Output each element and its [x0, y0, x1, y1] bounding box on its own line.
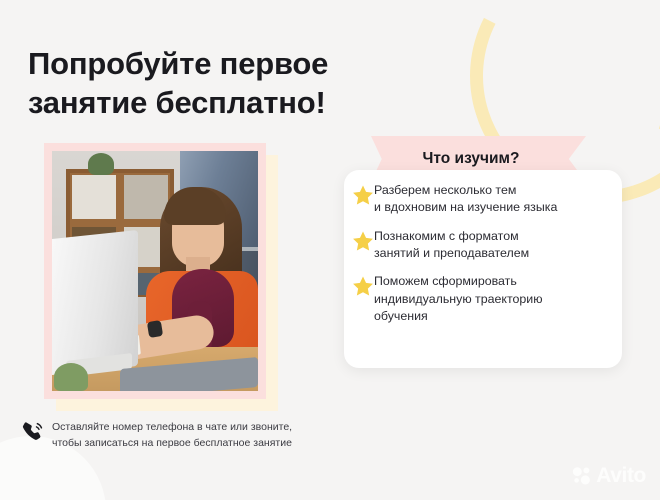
- avito-watermark: Avito: [571, 465, 646, 486]
- star-icon: [352, 230, 374, 252]
- avito-wordmark: Avito: [596, 465, 646, 486]
- list-item-text: Познакомим с форматом занятий и преподав…: [372, 228, 529, 263]
- list-item-text: Поможем сформировать индивидуальную трае…: [372, 273, 543, 325]
- list-item: Поможем сформировать индивидуальную трае…: [352, 273, 620, 336]
- benefits-list: Разберем несколько тем и вдохновим на из…: [352, 182, 620, 337]
- star-icon: [352, 184, 374, 206]
- student-photo: [52, 151, 258, 391]
- phone-call-icon: [20, 419, 46, 445]
- list-item: Разберем несколько тем и вдохновим на из…: [352, 182, 620, 228]
- list-item-text: Разберем несколько тем и вдохновим на из…: [372, 182, 557, 217]
- page-title: Попробуйте первое занятие бесплатно!: [28, 44, 458, 122]
- list-item: Познакомим с форматом занятий и преподав…: [352, 228, 620, 274]
- avito-dots-icon: [571, 465, 592, 486]
- star-icon: [352, 275, 374, 297]
- promo-banner: Попробуйте первое занятие бесплатно!: [0, 0, 660, 500]
- footer-caption: Оставляйте номер телефона в чате или зво…: [52, 419, 382, 452]
